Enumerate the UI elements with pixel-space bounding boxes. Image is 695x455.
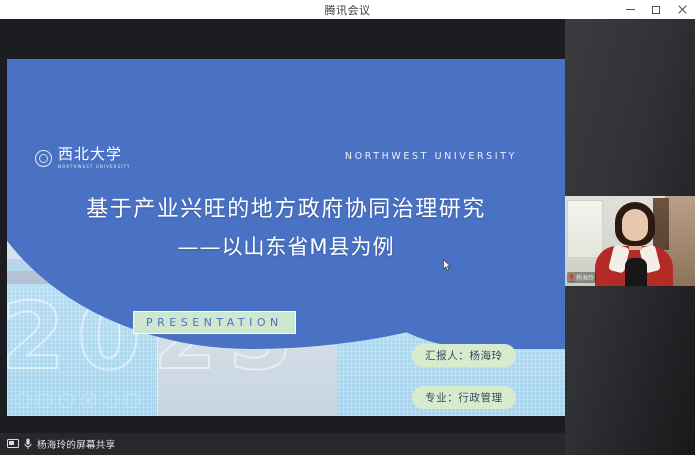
university-seal-icon bbox=[35, 150, 52, 167]
screen-share-label: 杨海玲的屏幕共享 bbox=[37, 437, 115, 451]
window-controls bbox=[617, 0, 695, 19]
close-button[interactable] bbox=[669, 0, 695, 19]
close-icon bbox=[678, 5, 687, 14]
info-pill-presenter: 汇报人：杨海玲 bbox=[412, 344, 516, 367]
monitor-icon bbox=[7, 439, 19, 449]
participant-video-tile[interactable]: 杨海玲 bbox=[565, 196, 695, 286]
video-background-cabinet bbox=[567, 200, 603, 258]
zoom-icon[interactable]: ⌕ bbox=[103, 393, 118, 408]
video-person-inner-top bbox=[625, 258, 647, 286]
maximize-button[interactable] bbox=[643, 0, 669, 19]
video-name-badge: 杨海玲 bbox=[567, 272, 596, 283]
pen-icon[interactable]: ✎ bbox=[59, 393, 74, 408]
university-name-cn: 西北大学 bbox=[58, 147, 131, 162]
presentation-band: PRESENTATION bbox=[133, 311, 296, 334]
title-bar: 腾讯会议 bbox=[0, 0, 695, 19]
next-slide-icon[interactable]: › bbox=[37, 393, 52, 408]
participant-sidebar: 杨海玲 bbox=[565, 19, 695, 455]
microphone-muted-icon bbox=[569, 274, 574, 282]
video-background-door bbox=[653, 198, 669, 250]
minimize-button[interactable] bbox=[617, 0, 643, 19]
more-icon[interactable]: ⋯ bbox=[125, 393, 140, 408]
info-pill-major: 专业：行政管理 bbox=[412, 386, 516, 409]
university-name-en-small: NORTHWEST UNIVERSITY bbox=[58, 164, 131, 169]
prev-slide-icon[interactable]: ‹ bbox=[15, 393, 30, 408]
ppt-slideshow-toolbar[interactable]: ‹ › ✎ ⊞ ⌕ ⋯ bbox=[15, 393, 140, 408]
shared-screen-area[interactable]: 2023 西北大学 NORTHWEST UNIVERSITY NORTHWEST… bbox=[0, 19, 565, 455]
slide-subtitle: ——以山东省M县为例 bbox=[7, 231, 565, 261]
grid-icon[interactable]: ⊞ bbox=[81, 393, 96, 408]
microphone-icon bbox=[24, 438, 32, 450]
university-logo-text: 西北大学 NORTHWEST UNIVERSITY bbox=[58, 147, 131, 169]
video-person-face bbox=[622, 209, 648, 241]
presentation-slide[interactable]: 2023 西北大学 NORTHWEST UNIVERSITY NORTHWEST… bbox=[7, 59, 565, 416]
window-title: 腾讯会议 bbox=[325, 2, 371, 18]
video-participant-name: 杨海玲 bbox=[576, 273, 594, 282]
university-logo: 西北大学 NORTHWEST UNIVERSITY bbox=[35, 147, 131, 169]
tencent-meeting-window: 腾讯会议 2023 bbox=[0, 0, 695, 455]
university-name-en-top: NORTHWEST UNIVERSITY bbox=[345, 151, 517, 162]
slide-title: 基于产业兴旺的地方政府协同治理研究 bbox=[7, 191, 565, 223]
meeting-stage: 2023 西北大学 NORTHWEST UNIVERSITY NORTHWEST… bbox=[0, 19, 695, 455]
screen-share-status-bar: 杨海玲的屏幕共享 bbox=[0, 433, 565, 455]
